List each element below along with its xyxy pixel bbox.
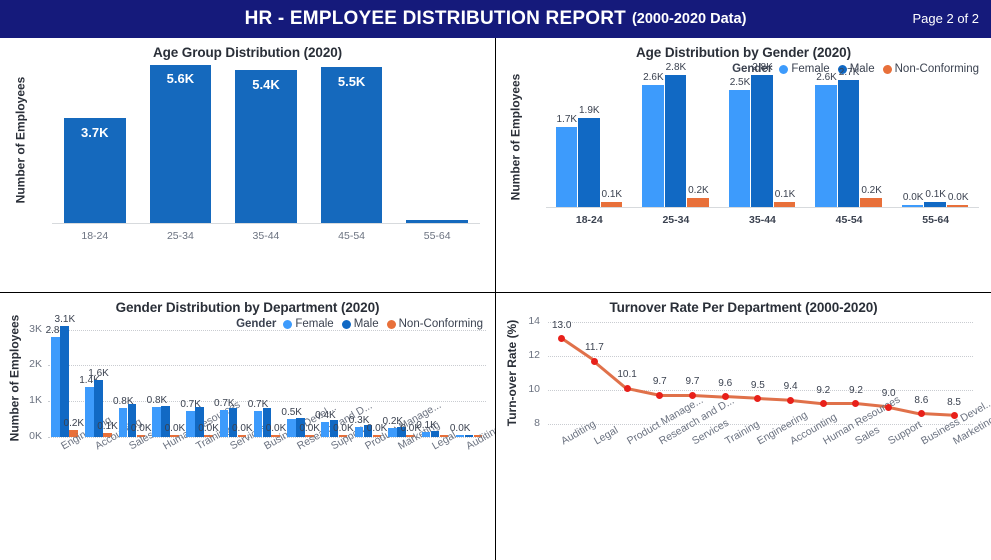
y-axis-tick-label: 12 [496,349,540,361]
x-axis-tick-label: 55-64 [394,230,480,242]
bar-age-group[interactable] [150,65,212,224]
y-axis-tick-label: 3K [0,323,42,335]
bar-female[interactable] [355,427,363,437]
bar-age-group[interactable] [235,70,297,223]
data-point[interactable] [918,410,925,417]
x-axis-tick-label: 35-44 [719,214,806,226]
bar-female[interactable] [456,435,464,438]
bar-female[interactable] [254,411,262,437]
data-point[interactable] [591,358,598,365]
bar-female[interactable] [186,411,194,437]
page-indicator: Page 2 of 2 [913,11,980,26]
bar-value-label: 1.9K [572,105,607,116]
y-axis-label: Turn-over Rate (%) [505,320,519,426]
x-axis-tick-label: 55-64 [892,214,979,226]
data-point-label: 9.4 [773,381,809,392]
y-axis-label: Number of Employees [508,73,522,200]
x-axis-tick-label: 18-24 [52,230,138,242]
line-segment [790,399,823,405]
data-point-label: 9.2 [838,385,874,396]
data-point-label: 10.1 [609,369,645,380]
bar-male[interactable] [924,202,946,207]
panel-age-distribution-by-gender: Age Distribution by Gender (2020) Gender… [496,38,991,293]
x-axis-tick-label: 45-54 [806,214,893,226]
bar-non-conforming[interactable] [774,202,796,207]
y-axis-tick-label: 1K [0,394,42,406]
data-point[interactable] [951,412,958,419]
bar-female[interactable] [51,337,59,437]
bar-female[interactable] [119,408,127,437]
y-axis-tick-label: 14 [496,315,540,327]
panel-turnover-rate: Turnover Rate Per Department (2000-2020)… [496,293,991,560]
bar-value-label: 0.2K [681,185,716,196]
x-axis-tick-label: 45-54 [309,230,395,242]
chart-grid: Age Group Distribution (2020) Number of … [0,38,991,560]
data-point-label: 9.6 [707,378,743,389]
bar-non-conforming[interactable] [687,198,709,207]
data-point-label: 9.7 [642,376,678,387]
y-axis-tick-label: 2K [0,358,42,370]
bar-value-label: 3.1K [52,314,77,325]
bar-value-label: 3.7K [64,125,126,140]
line-segment [921,412,954,417]
data-point-label: 11.7 [576,342,612,353]
bar-age-group[interactable] [406,220,468,223]
line-segment [660,394,693,397]
bar-female[interactable] [422,432,430,437]
data-point-label: 9.0 [871,388,907,399]
gridline [48,330,486,331]
line-segment [823,402,856,405]
bar-female[interactable] [902,205,924,207]
data-point[interactable] [754,395,761,402]
bar-non-conforming[interactable] [601,202,623,207]
bar-value-label: 2.7K [832,67,867,78]
bar-female[interactable] [152,407,160,437]
data-point[interactable] [689,392,696,399]
bar-female[interactable] [321,422,329,437]
bar-value-label: 2.8K [745,62,780,73]
bar-value-label: 5.5K [321,74,383,89]
bar-female[interactable] [85,387,93,437]
bar-value-label: 0.0K [448,423,473,434]
y-axis-tick-label: 10 [496,383,540,395]
bar-female[interactable] [815,85,837,207]
line-segment [627,387,660,397]
page-subtitle: (2000-2020 Data) [632,11,746,27]
bar-female[interactable] [220,410,228,437]
bar-value-label: 5.4K [235,77,297,92]
data-point[interactable] [787,397,794,404]
chart-gender-distribution-by-department[interactable]: Number of Employees0K1K2K3K2.8K3.1K0.2KE… [0,293,494,515]
line-segment [758,397,791,402]
hr-report-page: HR - EMPLOYEE DISTRIBUTION REPORT (2000-… [0,0,991,560]
panel-age-group-distribution: Age Group Distribution (2020) Number of … [0,38,496,293]
x-axis-tick-label: 35-44 [223,230,309,242]
bar-female[interactable] [287,419,295,437]
bar-value-label: 0.1K [768,189,803,200]
x-axis-tick-label: 18-24 [546,214,633,226]
bar-female[interactable] [556,127,578,207]
x-axis-tick-label: 25-34 [138,230,224,242]
bar-value-label: 2.8K [659,62,694,73]
data-point[interactable] [885,404,892,411]
data-point[interactable] [852,400,859,407]
bar-value-label: 0.5K [279,407,304,418]
x-axis-tick-label: 25-34 [633,214,720,226]
panel-gender-distribution-by-department: Gender Distribution by Department (2020)… [0,293,496,560]
report-header: HR - EMPLOYEE DISTRIBUTION REPORT (2000-… [0,0,991,38]
page-title: HR - EMPLOYEE DISTRIBUTION REPORT [245,8,626,30]
bar-female[interactable] [642,85,664,207]
bar-value-label: 0.1K [414,420,439,431]
bar-age-group[interactable] [321,67,383,223]
data-point[interactable] [820,400,827,407]
data-point-label: 13.0 [544,320,580,331]
bar-value-label: 0.1K [595,189,630,200]
x-axis-line [52,223,480,224]
gridline [48,365,486,366]
bar-value-label: 1.6K [86,368,111,379]
bar-value-label: 5.6K [150,71,212,86]
data-point-label: 9.7 [675,376,711,387]
y-axis-tick-label: 0K [0,430,42,442]
chart-age-distribution-by-gender[interactable]: Number of Employees1.7K1.9K0.1K18-242.6K… [496,38,989,235]
bar-non-conforming[interactable] [947,205,969,207]
data-point-label: 9.5 [740,380,776,391]
bar-non-conforming[interactable] [860,198,882,207]
bar-female[interactable] [388,428,396,437]
chart-age-group-distribution[interactable]: Number of Employees3.7K18-245.6K25-345.4… [0,38,494,253]
x-axis-tick-label: Support [886,419,924,448]
bar-female[interactable] [729,90,751,208]
bar-value-label: 0.2K [854,185,889,196]
y-axis-tick-label: 8 [496,417,540,429]
data-point-label: 9.2 [805,385,841,396]
data-point[interactable] [656,392,663,399]
gridline [548,356,973,357]
data-point-label: 8.6 [903,395,939,406]
y-axis-label: Number of Employees [13,76,27,203]
bar-male[interactable] [751,75,773,207]
gridline [548,322,973,323]
data-point-label: 8.5 [936,397,972,408]
x-axis-tick-label: Auditing [559,418,598,447]
bar-value-label: 0.0K [941,192,976,203]
data-point[interactable] [624,385,631,392]
chart-turnover-rate-per-department[interactable]: Turn-over Rate (%)810121413.0Auditing11.… [496,293,989,515]
x-axis-line [546,207,979,208]
